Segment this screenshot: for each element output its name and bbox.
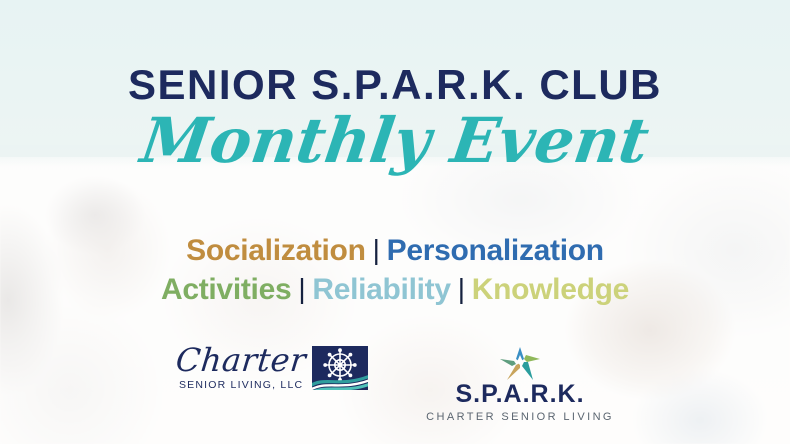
page-title: SENIOR S.P.A.R.K. CLUB <box>0 64 790 106</box>
word-reliability: Reliability <box>312 273 450 306</box>
spark-words: Socialization|Personalization Activities… <box>0 234 790 307</box>
logo-row: Charter SENIOR LIVING, LLC <box>0 344 790 423</box>
spark-words-row-2: Activities|Reliability|Knowledge <box>0 273 790 308</box>
spark-subtitle: CHARTER SENIOR LIVING <box>426 411 614 423</box>
word-personalization: Personalization <box>387 234 604 267</box>
charter-senior-living-logo: Charter SENIOR LIVING, LLC <box>176 344 368 391</box>
word-activities: Activities <box>161 273 291 306</box>
word-separator: | <box>366 234 387 265</box>
word-knowledge: Knowledge <box>472 273 629 306</box>
charter-subtitle: SENIOR LIVING, LLC <box>176 379 306 391</box>
spark-words-row-1: Socialization|Personalization <box>0 234 790 269</box>
charter-script-name: Charter <box>174 344 307 376</box>
script-subtitle: Monthly Event <box>0 108 790 173</box>
word-socialization: Socialization <box>186 234 365 267</box>
multicolor-star-icon <box>499 346 541 382</box>
spark-title: S.P.A.R.K. <box>426 381 614 409</box>
senior-spark-club-banner: SENIOR S.P.A.R.K. CLUB Monthly Event Soc… <box>0 0 790 444</box>
word-separator: | <box>451 273 472 304</box>
spark-logo: S.P.A.R.K. CHARTER SENIOR LIVING <box>426 344 614 423</box>
charter-wordmark: Charter SENIOR LIVING, LLC <box>176 344 306 391</box>
ships-wheel-waves-icon <box>312 346 368 390</box>
word-separator: | <box>291 273 312 304</box>
